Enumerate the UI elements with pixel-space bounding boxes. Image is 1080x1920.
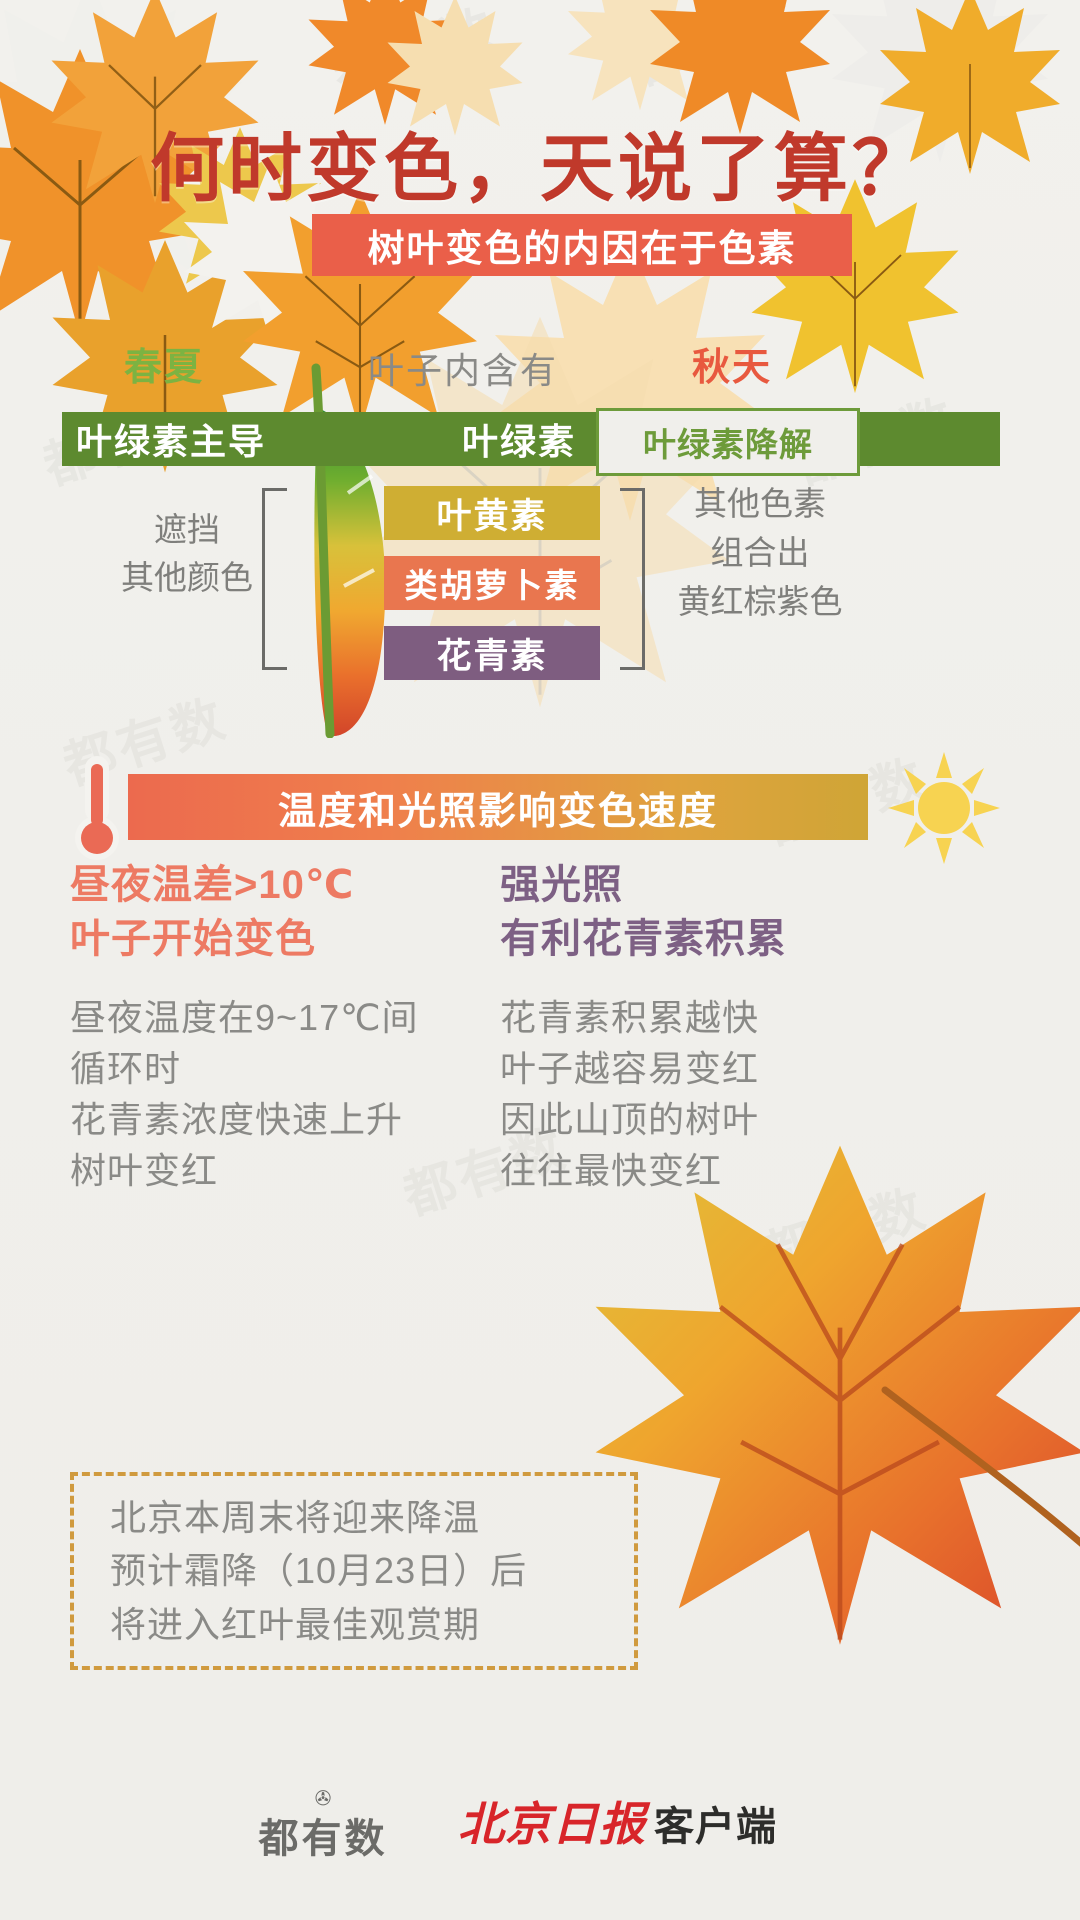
brand-logo: ✇ 都有数 xyxy=(228,1786,418,1864)
light-heading-line-2: 有利花青素积累 xyxy=(500,917,787,961)
forecast-line-3: 将进入红叶最佳观赏期 xyxy=(110,1604,480,1645)
publisher: 北京日报 客户端 xyxy=(458,1788,777,1854)
pigment-section-banner-label: 树叶变色的内因在于色素 xyxy=(368,218,797,272)
pigment-section-banner: 树叶变色的内因在于色素 xyxy=(312,214,852,276)
temperature-body-line-1: 昼夜温度在9~17℃间 xyxy=(70,997,419,1038)
temperature-heading-line-2: 叶子开始变色 xyxy=(70,917,316,961)
forecast-callout: 北京本周末将迎来降温 预计霜降（10月23日）后 将进入红叶最佳观赏期 xyxy=(70,1472,638,1670)
season-label-autumn: 秋天 xyxy=(692,336,772,391)
maple-leaf-decoration xyxy=(640,0,840,140)
temperature-body-line-2: 循环时 xyxy=(70,1048,181,1089)
climate-section-banner-label: 温度和光照影响变色速度 xyxy=(278,780,718,835)
maple-leaf-hero xyxy=(580,1130,1080,1650)
brand-logo-label: 都有数 xyxy=(259,1816,388,1862)
chlorophyll-center-label: 叶绿素 xyxy=(462,413,576,465)
footer: ✇ 都有数 北京日报 客户端 xyxy=(0,1770,1080,1880)
left-note-line-1: 遮挡 xyxy=(112,506,262,554)
thermometer-icon xyxy=(62,752,132,862)
maple-leaf-decoration xyxy=(380,0,530,140)
page-title: 何时变色，天说了算？ xyxy=(0,132,1080,206)
light-heading-line-1: 强光照 xyxy=(500,863,623,907)
right-note-line-3: 黄红棕紫色 xyxy=(640,578,880,627)
left-note: 遮挡 其他颜色 xyxy=(112,506,262,602)
temperature-body-line-3: 花青素浓度快速上升 xyxy=(70,1099,403,1140)
light-body: 花青素积累越快 叶子越容易变红 因此山顶的树叶 往往最快变红 xyxy=(500,992,920,1196)
light-heading: 强光照 有利花青素积累 xyxy=(500,858,920,966)
column-temperature: 昼夜温差>10℃ 叶子开始变色 昼夜温度在9~17℃间 循环时 花青素浓度快速上… xyxy=(70,858,490,1196)
publisher-suffix: 客户端 xyxy=(654,1794,777,1852)
left-bracket xyxy=(262,488,287,670)
watermark: 都有数 xyxy=(323,0,506,109)
brand-logo-mark: ✇ xyxy=(228,1786,418,1810)
temperature-body-line-4: 树叶变红 xyxy=(70,1150,218,1191)
forecast-callout-text: 北京本周末将迎来降温 预计霜降（10月23日）后 将进入红叶最佳观赏期 xyxy=(110,1491,527,1651)
right-note: 其他色素 组合出 黄红棕紫色 xyxy=(640,480,880,626)
temperature-heading-line-1: 昼夜温差>10℃ xyxy=(70,863,354,907)
light-body-line-1: 花青素积累越快 xyxy=(500,997,759,1038)
temperature-heading: 昼夜温差>10℃ 叶子开始变色 xyxy=(70,858,490,966)
sun-icon xyxy=(884,752,1004,864)
season-label-spring-summer: 春夏 xyxy=(124,336,204,391)
maple-leaf-decoration xyxy=(300,0,470,130)
light-body-line-3: 因此山顶的树叶 xyxy=(500,1099,759,1140)
pigment-diagram: 春夏 秋天 叶子内含有 xyxy=(0,300,1080,740)
chlorophyll-left-label: 叶绿素主导 xyxy=(76,413,266,465)
climate-section-banner-wrap: 温度和光照影响变色速度 xyxy=(0,752,1080,862)
chlorophyll-degrade-box: 叶绿素降解 xyxy=(596,408,860,476)
watermark: 都有数 xyxy=(623,0,806,99)
climate-section-banner: 温度和光照影响变色速度 xyxy=(128,774,868,840)
left-note-line-2: 其他颜色 xyxy=(112,554,262,602)
leaf-stem xyxy=(880,1380,1080,1580)
light-body-line-4: 往往最快变红 xyxy=(500,1150,722,1191)
column-light: 强光照 有利花青素积累 花青素积累越快 叶子越容易变红 因此山顶的树叶 往往最快… xyxy=(500,858,920,1196)
temperature-body: 昼夜温度在9~17℃间 循环时 花青素浓度快速上升 树叶变红 xyxy=(70,992,490,1196)
pigment-bar-xanthophyll: 叶黄素 xyxy=(384,486,600,540)
maple-leaf-decoration xyxy=(560,0,720,115)
light-body-line-2: 叶子越容易变红 xyxy=(500,1048,759,1089)
right-note-line-2: 组合出 xyxy=(640,529,880,578)
forecast-line-1: 北京本周末将迎来降温 xyxy=(110,1497,480,1538)
publisher-name: 北京日报 xyxy=(458,1788,646,1854)
pigment-bar-carotenoid: 类胡萝卜素 xyxy=(384,556,600,610)
forecast-line-2: 预计霜降（10月23日）后 xyxy=(110,1550,527,1591)
right-note-line-1: 其他色素 xyxy=(640,480,880,529)
pigment-bar-anthocyanin: 花青素 xyxy=(384,626,600,680)
poster-root: 都有数 都有数 都有数 都有数 都有数 都有数 都有数 都有数 xyxy=(0,0,1080,1920)
